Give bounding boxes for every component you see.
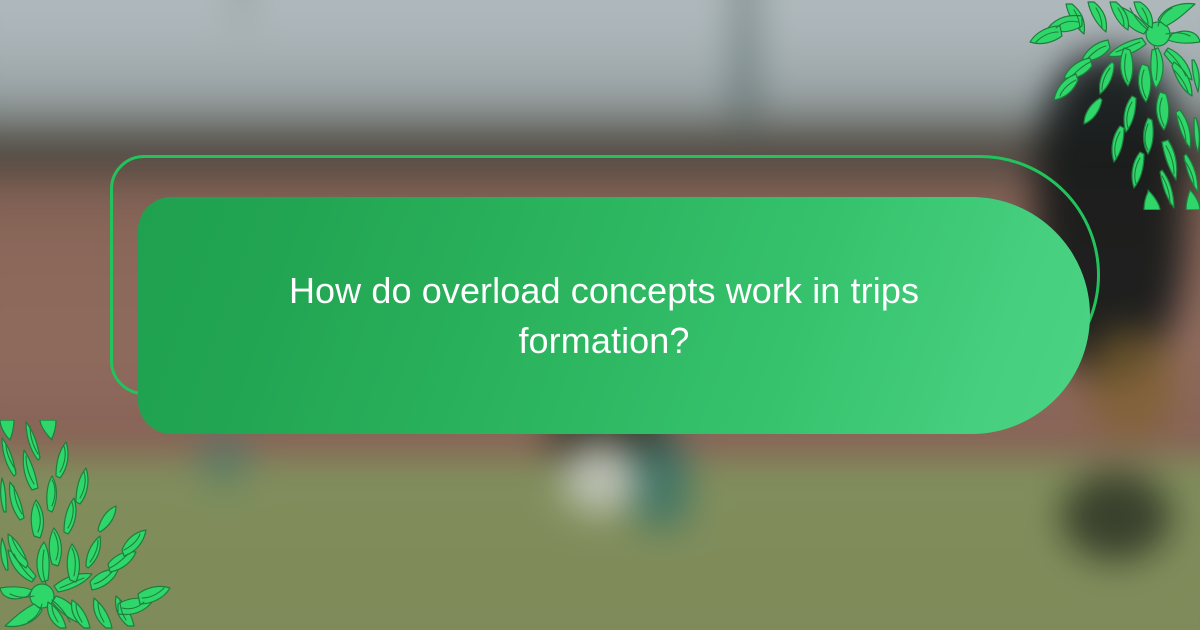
question-title: How do overload concepts work in trips f… <box>254 266 954 366</box>
question-card: How do overload concepts work in trips f… <box>138 197 1090 434</box>
question-card-graphic: How do overload concepts work in trips f… <box>0 0 1200 630</box>
